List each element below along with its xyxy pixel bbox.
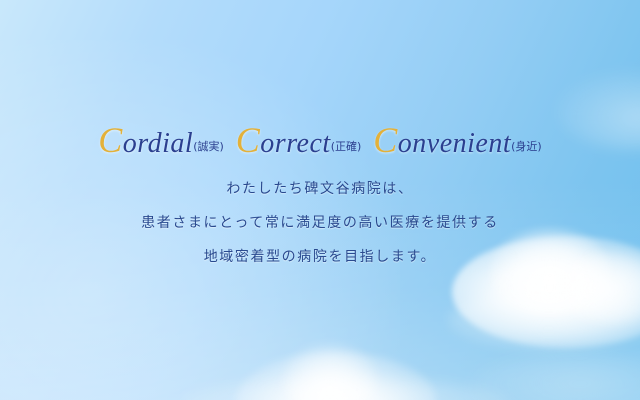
hero-content: Cordial(誠実)Correct(正確)Convenient(身近) わたし… (0, 122, 640, 264)
slogan-rest-convenient: onvenient (398, 128, 511, 159)
slogan-word-cordial: Cordial(誠実) (98, 122, 224, 158)
cloud-bottom-center (236, 352, 436, 400)
slogan-rest-correct: orrect (260, 128, 330, 159)
slogan-initial-correct: C (236, 120, 261, 160)
cloud-right-base (448, 290, 640, 350)
slogan-rest-cordial: ordial (123, 128, 193, 159)
hero-banner: Cordial(誠実)Correct(正確)Convenient(身近) わたし… (0, 0, 640, 400)
message-line-1: わたしたち碑文谷病院は、 (0, 182, 640, 196)
slogan-initial-convenient: C (373, 120, 398, 160)
message-line-2: 患者さまにとって常に満足度の高い医療を提供する (0, 216, 640, 230)
slogan-word-convenient: Convenient(身近) (373, 122, 541, 158)
slogan-reading-convenient: (身近) (511, 140, 542, 153)
slogan-reading-cordial: (誠実) (193, 140, 224, 153)
message-line-3: 地域密着型の病院を目指します。 (0, 250, 640, 264)
slogan-word-correct: Correct(正確) (236, 122, 362, 158)
slogan-line: Cordial(誠実)Correct(正確)Convenient(身近) (0, 122, 640, 158)
slogan-reading-correct: (正確) (331, 140, 362, 153)
cloud-bottom-spread (180, 378, 510, 400)
cloud-lower-right-haze (470, 352, 640, 400)
cloud-bottom-peak (282, 344, 378, 400)
slogan-initial-cordial: C (98, 120, 123, 160)
